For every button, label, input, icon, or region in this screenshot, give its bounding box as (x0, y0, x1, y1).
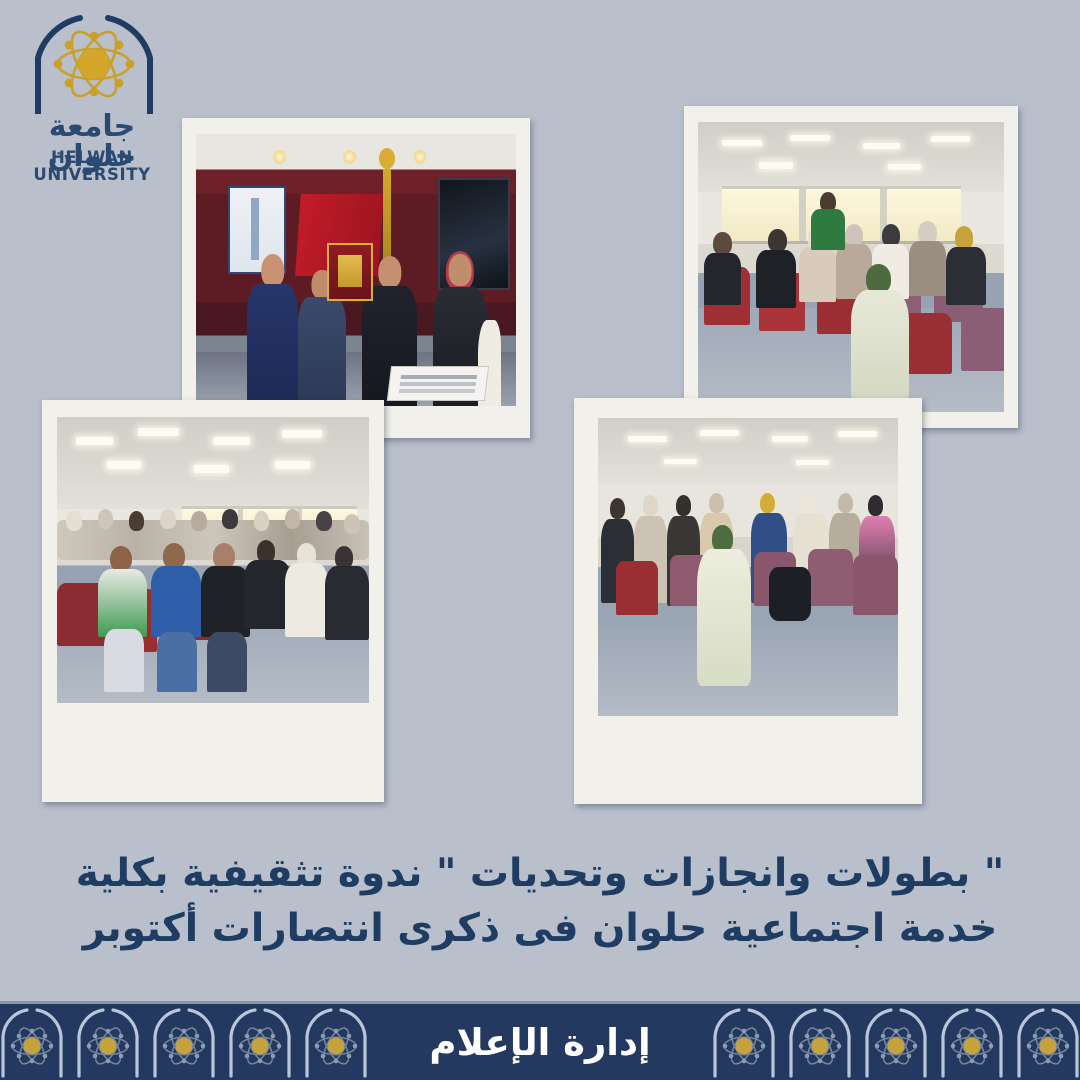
university-logo: جامعة حلوان HELWAN UNIVERSITY (8, 14, 180, 174)
photo-image-audience-standing (598, 418, 898, 716)
photo-card-audience-seated-right[interactable] (684, 106, 1018, 428)
photo-image-audience-seated-right (698, 122, 1004, 412)
poster-canvas: جامعة حلوان HELWAN UNIVERSITY (0, 0, 1080, 1080)
photo-image-award-ceremony (196, 134, 516, 406)
photo-image-audience-seated-left (57, 417, 369, 703)
atom-arch-logo-icon (24, 14, 164, 114)
headline-line-2: خدمة اجتماعية حلوان فى ذكرى انتصارات أكت… (60, 901, 1020, 956)
logo-latin-name: HELWAN UNIVERSITY (8, 150, 176, 183)
photo-card-audience-seated-left[interactable] (42, 400, 384, 802)
photo-card-award-ceremony[interactable] (182, 118, 530, 438)
footer-title: إدارة الإعلام (0, 1004, 1080, 1080)
headline-line-1: " بطولات وانجازات وتحديات " ندوة تثقيفية… (60, 846, 1020, 901)
photo-card-audience-standing[interactable] (574, 398, 922, 804)
footer-bar: إدارة الإعلام (0, 1001, 1080, 1080)
page-headline: " بطولات وانجازات وتحديات " ندوة تثقيفية… (60, 846, 1020, 957)
